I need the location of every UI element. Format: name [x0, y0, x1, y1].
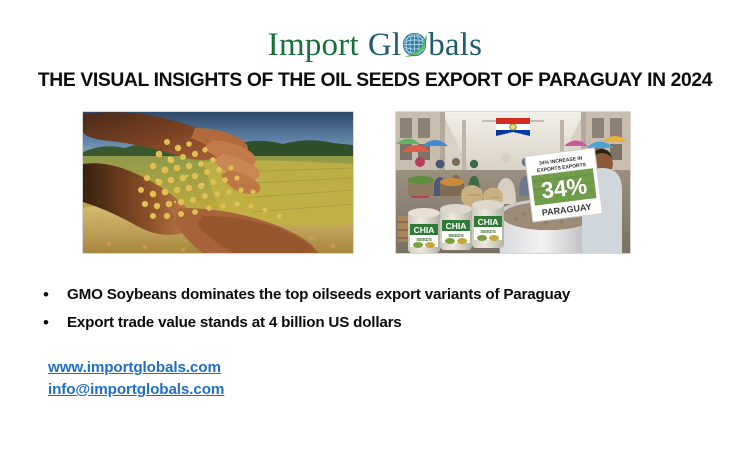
brand-logo: Import Gl bals: [0, 20, 750, 70]
svg-text:SEEDS: SEEDS: [480, 229, 496, 234]
email-link[interactable]: info@importglobals.com: [48, 379, 224, 401]
logo-word-gl: Gl: [368, 29, 401, 62]
list-item: • Export trade value stands at 4 billion…: [40, 311, 720, 334]
image-soybeans-in-hands: [83, 112, 353, 253]
website-link[interactable]: www.importglobals.com: [48, 357, 224, 379]
contact-links: www.importglobals.com info@importglobals…: [48, 357, 224, 401]
list-item: • GMO Soybeans dominates the top oilseed…: [40, 283, 720, 306]
bullet-text: GMO Soybeans dominates the top oilseeds …: [56, 283, 570, 306]
image-paraguay-market: CHIA SEEDS CHIA SEEDS CHIA SEEDS: [396, 112, 630, 253]
logo-text: Import Gl bals: [268, 28, 482, 62]
export-increase-sign: 34% INCREASE IN EXPORTS EXPORTS 34% PARA…: [525, 148, 603, 222]
svg-text:SEEDS: SEEDS: [448, 233, 464, 238]
logo-word-import: Import: [268, 29, 359, 62]
svg-text:CHIA: CHIA: [478, 217, 499, 227]
logo-word-bals: bals: [428, 29, 482, 62]
svg-text:34%: 34%: [540, 172, 589, 203]
key-insights-list: • GMO Soybeans dominates the top oilseed…: [40, 283, 720, 339]
page-title: THE VISUAL INSIGHTS OF THE OIL SEEDS EXP…: [0, 70, 750, 92]
svg-text:SEEDS: SEEDS: [416, 237, 432, 242]
bullet-marker: •: [40, 311, 56, 334]
globe-icon: [401, 31, 428, 58]
bullet-marker: •: [40, 283, 56, 306]
svg-text:CHIA: CHIA: [446, 221, 467, 231]
bullet-text: Export trade value stands at 4 billion U…: [56, 311, 402, 334]
svg-text:CHIA: CHIA: [414, 225, 435, 235]
